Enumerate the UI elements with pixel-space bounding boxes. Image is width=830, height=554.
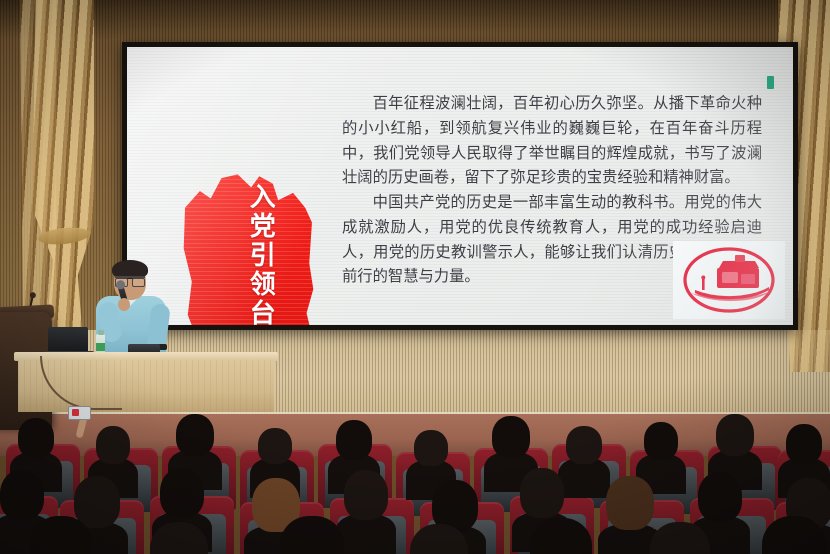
audience-member-shoulders bbox=[336, 514, 396, 554]
audience-member-head bbox=[74, 476, 120, 528]
audience-member-head bbox=[160, 468, 204, 518]
slide-paragraph-1: 百年征程波澜壮阔，百年初心历久弥坚。从播下革命火种的小小红船，到领航复兴伟业的巍… bbox=[342, 91, 762, 190]
audience-member-head bbox=[786, 424, 822, 464]
audience-member-head bbox=[344, 470, 388, 520]
laptop-computer bbox=[48, 327, 88, 353]
presenter-hand bbox=[118, 298, 130, 311]
green-marker-icon bbox=[767, 76, 774, 89]
audience-member-head bbox=[414, 430, 448, 466]
seated-audience bbox=[0, 404, 830, 554]
audience-member-head bbox=[0, 470, 44, 520]
audience-member-head bbox=[492, 416, 530, 458]
ceiling-shadow bbox=[0, 0, 830, 40]
audience-member-head bbox=[566, 426, 602, 464]
red-boat-emblem bbox=[673, 241, 785, 319]
audience-member-head bbox=[698, 472, 742, 522]
slide-brush-title: 入党引领台 bbox=[246, 183, 274, 325]
water-bottle-label bbox=[96, 343, 105, 351]
audience-member-head bbox=[644, 422, 678, 460]
projection-screen-frame: 入党引领台 百年征程波澜壮阔，百年初心历久弥坚。从播下革命火种的小小红船，到领航… bbox=[122, 42, 798, 330]
water-bottle-cap bbox=[98, 330, 104, 335]
lecture-hall-scene: 入党引领台 百年征程波澜壮阔，百年初心历久弥坚。从播下革命火种的小小红船，到领航… bbox=[0, 0, 830, 554]
audience-member-head bbox=[520, 468, 564, 518]
audience-member-head bbox=[716, 414, 754, 456]
audience-phone-camera bbox=[68, 406, 91, 420]
brush-stroke-title-block: 入党引领台 bbox=[181, 167, 316, 325]
audience-member-head bbox=[96, 426, 130, 464]
audience-member-head bbox=[176, 414, 214, 456]
audience-member-head bbox=[18, 418, 54, 458]
audience-member-shoulders bbox=[558, 458, 610, 498]
audience-member-head bbox=[258, 428, 292, 464]
audience-member-head bbox=[336, 420, 372, 460]
projection-screen: 入党引领台 百年征程波澜壮阔，百年初心历久弥坚。从播下革命火种的小小红船，到领航… bbox=[127, 47, 793, 325]
audience-member-head bbox=[606, 476, 654, 530]
